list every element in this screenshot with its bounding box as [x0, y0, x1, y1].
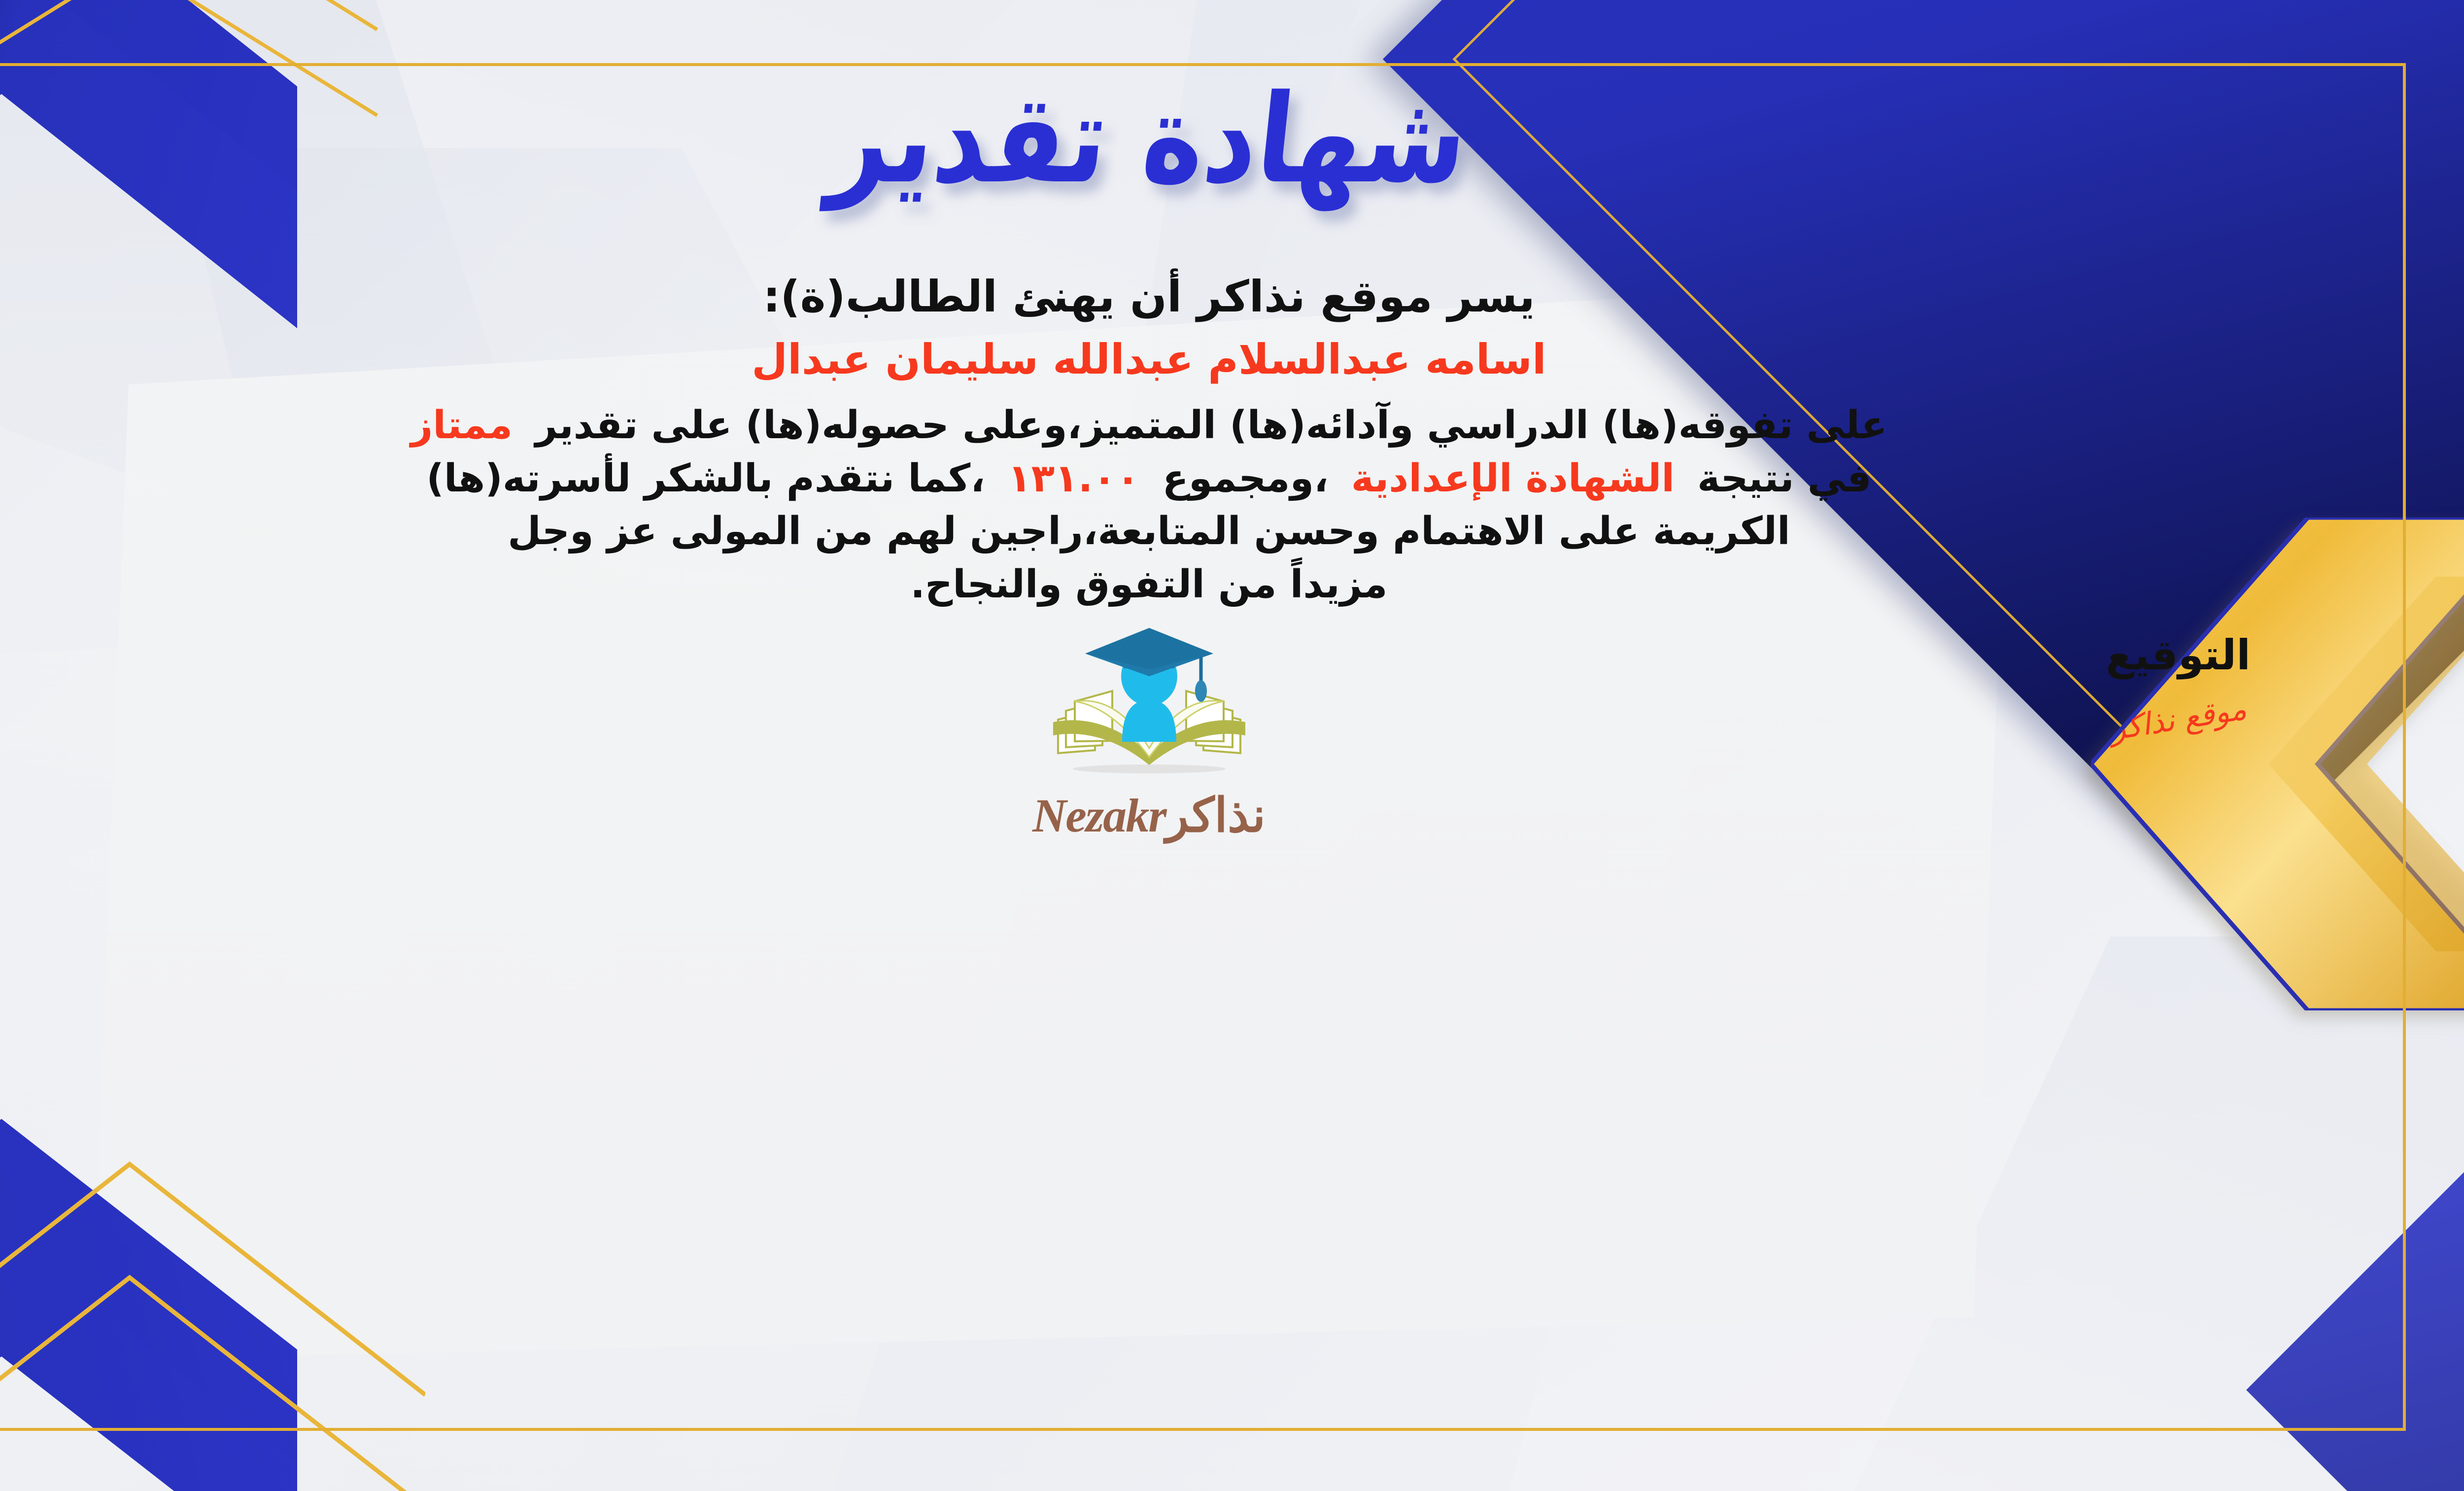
total-score: ١٣١.٠٠ [1008, 456, 1140, 501]
body-line-4: مزيداً من التفوق والنجاح. [0, 558, 2370, 612]
logo-wordmark: نذاكرNezakr [977, 788, 1322, 843]
signature-mark: موقع نذاكر [2108, 691, 2249, 748]
certificate-canvas: شهادة تقدير يسر موقع نذاكر أن يهنئ الطال… [0, 0, 2464, 1491]
body-line-2-prefix: في نتيجة [1697, 456, 1872, 501]
body-line-2-mid: ،ومجموع [1163, 456, 1329, 501]
body-paragraph: على تفوقه(ها) الدراسي وآدائه(ها) المتميز… [0, 399, 2370, 612]
certificate-content: شهادة تقدير يسر موقع نذاكر أن يهنئ الطال… [0, 74, 2385, 1417]
signature-block: التوقيع موقع نذاكر [2025, 631, 2331, 737]
body-line-2-suffix: ،كما نتقدم بالشكر لأسرته(ها) [426, 456, 985, 501]
student-name: اسامه عبدالسلام عبدالله سليمان عبدال [0, 335, 2385, 383]
intro-line: يسر موقع نذاكر أن يهنئ الطالب(ة): [0, 271, 2385, 322]
grade-value: ممتاز [411, 403, 513, 448]
site-logo: نذاكرNezakr [977, 621, 1322, 843]
logo-arabic: نذاكر [1166, 789, 1266, 842]
body-line-3: الكريمة على الاهتمام وحسن المتابعة،راجين… [0, 505, 2370, 558]
exam-name: الشهادة الإعدادية [1351, 456, 1675, 501]
signature-label: التوقيع [2025, 631, 2331, 679]
body-line-2: في نتيجةالشهادة الإعدادية،ومجموع١٣١.٠٠،ك… [0, 452, 2370, 506]
logo-latin: Nezakr [1032, 789, 1166, 842]
page-title: شهادة تقدير [0, 68, 2393, 210]
graduate-book-icon [1043, 621, 1255, 784]
body-line-1-text: على تفوقه(ها) الدراسي وآدائه(ها) المتميز… [535, 403, 1887, 448]
body-line-1: على تفوقه(ها) الدراسي وآدائه(ها) المتميز… [0, 399, 2370, 452]
